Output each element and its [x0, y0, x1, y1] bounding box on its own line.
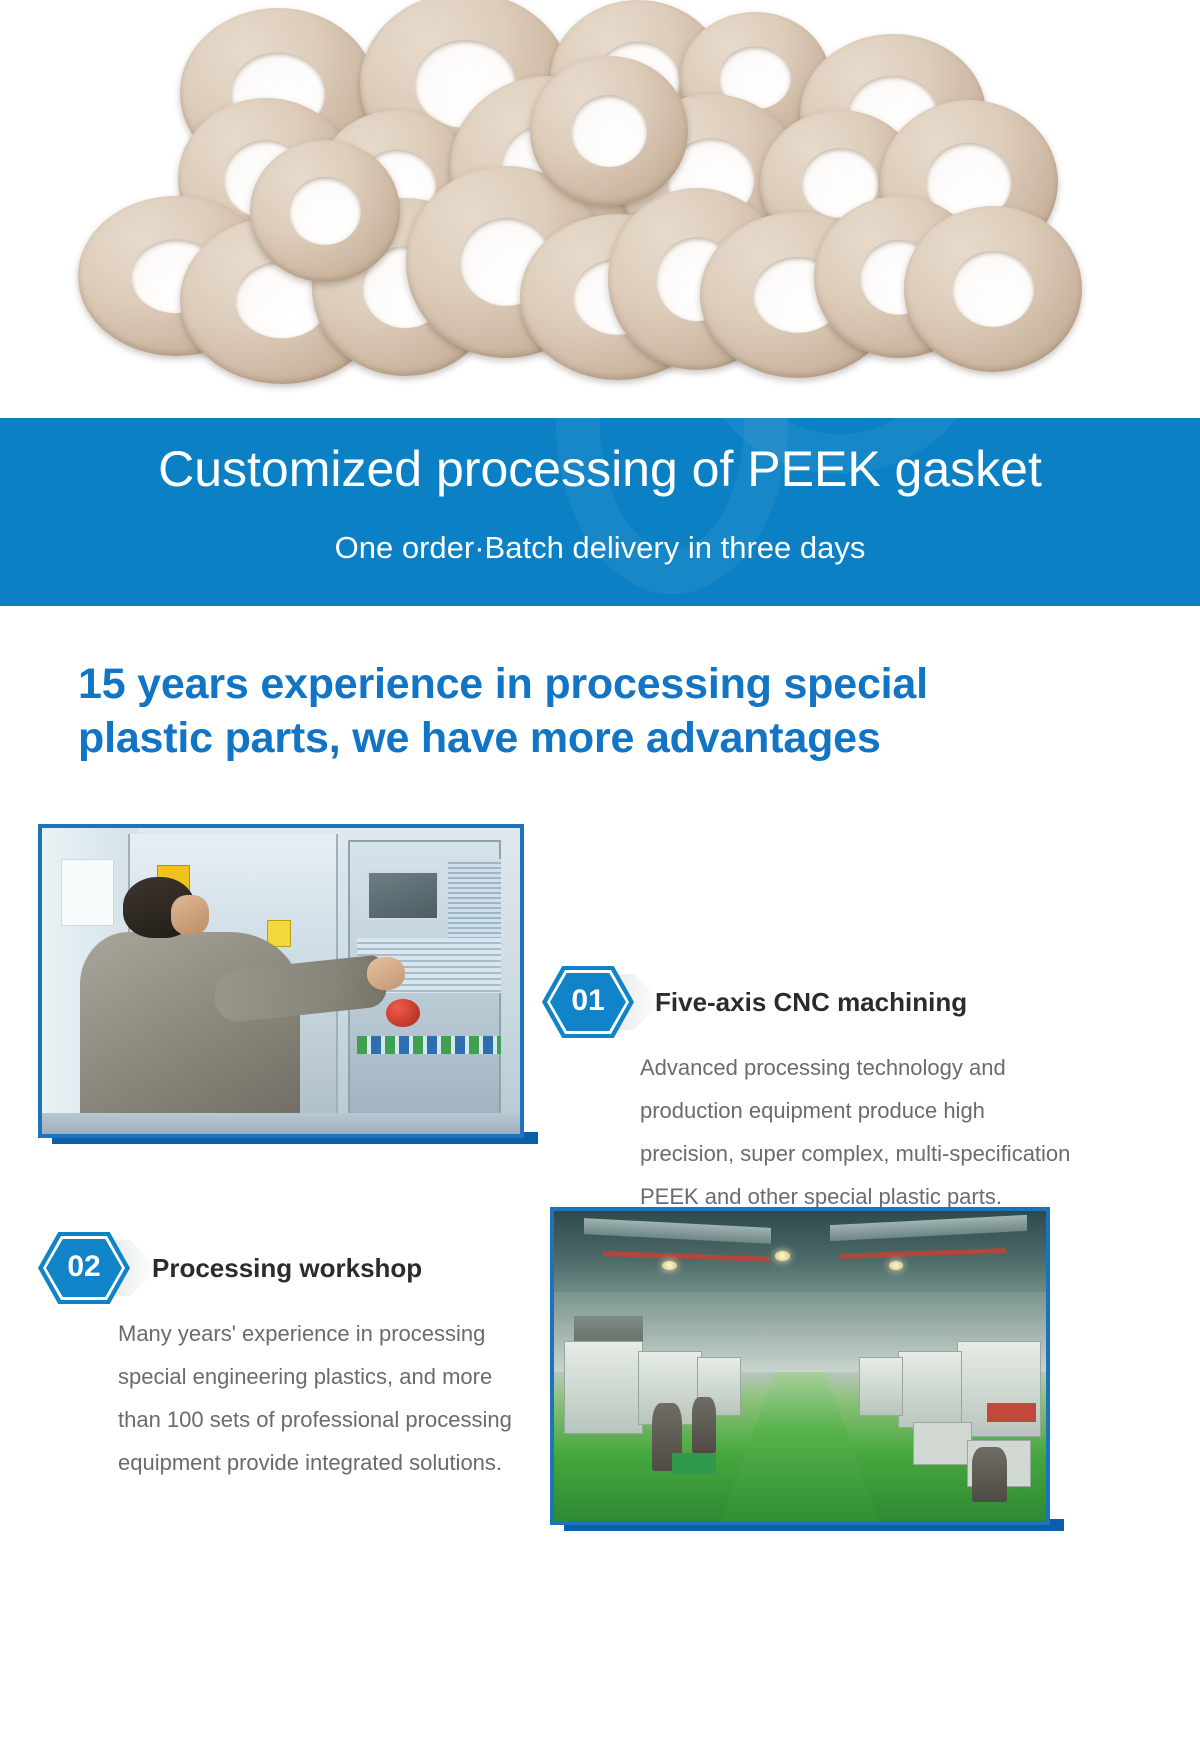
feature-02-body: Many years' experience in processing spe…	[118, 1312, 518, 1484]
feature-01-image	[38, 824, 524, 1138]
banner-title: Customized processing of PEEK gasket	[0, 440, 1200, 498]
section-heading-line-2: plastic parts, we have more advantages	[78, 711, 1088, 765]
feature-01-title: Five-axis CNC machining	[655, 987, 967, 1018]
feature-01-body: Advanced processing technology and produ…	[640, 1046, 1080, 1218]
feature-01-number: 01	[571, 986, 604, 1016]
feature-01-number-badge: 01	[542, 966, 634, 1038]
hero-product-image	[0, 0, 1200, 418]
banner-subtitle: One order·Batch delivery in three days	[0, 530, 1200, 566]
gasket-ring-pile	[60, 0, 1080, 418]
feature-02-number-badge: 02	[38, 1232, 130, 1304]
section-heading-line-1: 15 years experience in processing specia…	[78, 657, 1088, 711]
feature-02-number: 02	[67, 1252, 100, 1282]
section-heading: 15 years experience in processing specia…	[78, 657, 1088, 765]
feature-02-title: Processing workshop	[152, 1253, 422, 1284]
hero-banner: Customized processing of PEEK gasket One…	[0, 418, 1200, 606]
feature-02-image	[550, 1207, 1050, 1525]
